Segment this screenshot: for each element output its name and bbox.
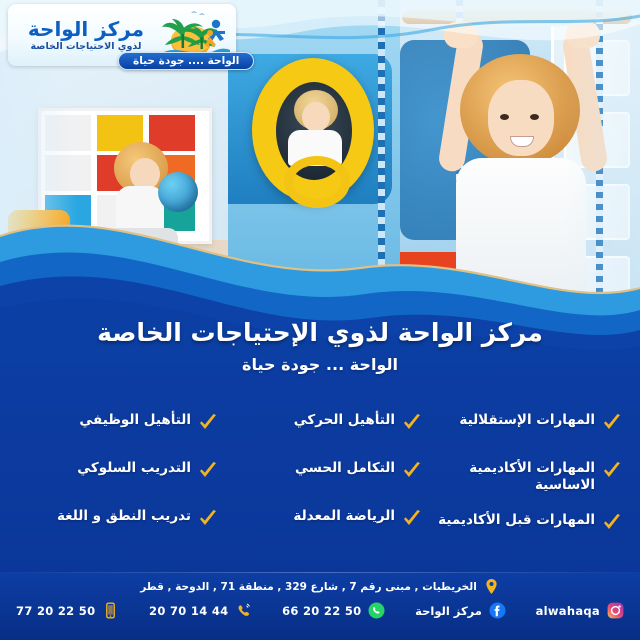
check-mark-icon bbox=[198, 413, 218, 433]
contact-mobile[interactable]: 50 22 20 77 bbox=[16, 602, 119, 619]
footer-divider bbox=[0, 572, 640, 573]
address-row: الخريطيات , مبنى رقم 7 , شارع 329 , منطق… bbox=[0, 578, 640, 595]
service-label: التأهيل الحركي bbox=[294, 412, 395, 429]
service-label: التكامل الحسي bbox=[295, 460, 395, 477]
contact-facebook[interactable]: مركز الواحة bbox=[415, 602, 506, 619]
service-label: المهارات قبل الأكاديمية bbox=[438, 512, 595, 529]
services-column-motor-sensory: التأهيل الحركي التكامل الحسي الرياضة الم… bbox=[218, 412, 422, 552]
service-label: المهارات الأكاديمية الاساسية bbox=[422, 460, 595, 494]
list-item[interactable]: المهارات الإستقلالية bbox=[422, 412, 626, 442]
location-pin-icon bbox=[483, 578, 500, 595]
service-label: التأهيل الوظيفي bbox=[79, 412, 191, 429]
list-item[interactable]: المهارات قبل الأكاديمية bbox=[422, 512, 626, 542]
footer: الخريطيات , مبنى رقم 7 , شارع 329 , منطق… bbox=[0, 572, 640, 640]
child-figure bbox=[430, 18, 620, 330]
child-figure bbox=[104, 142, 180, 272]
tagline-badge: الواحة .... جودة حياة bbox=[118, 52, 254, 70]
list-item[interactable]: التكامل الحسي bbox=[218, 460, 422, 490]
contact-telephone[interactable]: 44 14 70 20 bbox=[149, 602, 252, 619]
logo-subtitle: لذوي الاحتياجات الخاصة bbox=[14, 42, 158, 52]
service-label: الرياضة المعدلة bbox=[293, 508, 395, 525]
list-item[interactable]: التأهيل الحركي bbox=[218, 412, 422, 442]
mobile-number: 50 22 20 77 bbox=[16, 604, 95, 618]
services-list: المهارات الإستقلالية المهارات الأكاديمية… bbox=[0, 412, 640, 552]
whatsapp-icon bbox=[368, 602, 385, 619]
service-label: تدريب النطق و اللغة bbox=[57, 508, 191, 525]
check-mark-icon bbox=[198, 509, 218, 529]
orange-bean-bag bbox=[8, 210, 70, 272]
photo-child-in-play-tunnel bbox=[228, 0, 406, 330]
photo-child-hanging-on-trapeze-bar bbox=[400, 0, 640, 330]
check-mark-icon bbox=[402, 461, 422, 481]
mobile-phone-icon bbox=[102, 602, 119, 619]
list-item[interactable]: التدريب السلوكي bbox=[14, 460, 218, 490]
list-item[interactable]: المهارات الأكاديمية الاساسية bbox=[422, 460, 626, 494]
contact-whatsapp[interactable]: 50 22 20 66 bbox=[282, 602, 385, 619]
phone-ringing-icon bbox=[235, 602, 252, 619]
whatsapp-number: 50 22 20 66 bbox=[282, 604, 361, 618]
check-mark-icon bbox=[602, 513, 622, 533]
services-column-independence-skills: المهارات الإستقلالية المهارات الأكاديمية… bbox=[422, 412, 626, 552]
check-mark-icon bbox=[402, 413, 422, 433]
climbing-rope bbox=[378, 0, 385, 330]
telephone-number: 44 14 70 20 bbox=[149, 604, 228, 618]
contact-row: alwahaqa مركز الواحة 5 bbox=[0, 602, 640, 619]
check-mark-icon bbox=[198, 461, 218, 481]
services-column-functional-behaviour: التأهيل الوظيفي التدريب السلوكي تدريب ال… bbox=[14, 412, 218, 552]
facebook-icon bbox=[489, 602, 506, 619]
poster-root: مركز الواحة لذوي الاحتياجات الخاصة الواح… bbox=[0, 0, 640, 640]
page-subtitle: الواحة ... جودة حياة bbox=[0, 355, 640, 374]
logo-title: مركز الواحة bbox=[14, 19, 158, 39]
page-title: مركز الواحة لذوي الإحتياجات الخاصة bbox=[0, 318, 640, 347]
address-text: الخريطيات , مبنى رقم 7 , شارع 329 , منطق… bbox=[140, 581, 477, 593]
yellow-play-ring bbox=[284, 156, 350, 208]
check-mark-icon bbox=[402, 509, 422, 529]
service-label: المهارات الإستقلالية bbox=[459, 412, 595, 429]
instagram-handle: alwahaqa bbox=[536, 604, 600, 618]
service-label: التدريب السلوكي bbox=[77, 460, 191, 477]
sensory-ball bbox=[158, 172, 198, 212]
headline-block: مركز الواحة لذوي الإحتياجات الخاصة الواح… bbox=[0, 318, 640, 374]
instagram-icon bbox=[607, 602, 624, 619]
list-item[interactable]: تدريب النطق و اللغة bbox=[14, 508, 218, 538]
check-mark-icon bbox=[602, 413, 622, 433]
list-item[interactable]: التأهيل الوظيفي bbox=[14, 412, 218, 442]
check-mark-icon bbox=[602, 461, 622, 481]
list-item[interactable]: الرياضة المعدلة bbox=[218, 508, 422, 538]
facebook-page-name: مركز الواحة bbox=[415, 604, 482, 618]
contact-instagram[interactable]: alwahaqa bbox=[536, 602, 624, 619]
